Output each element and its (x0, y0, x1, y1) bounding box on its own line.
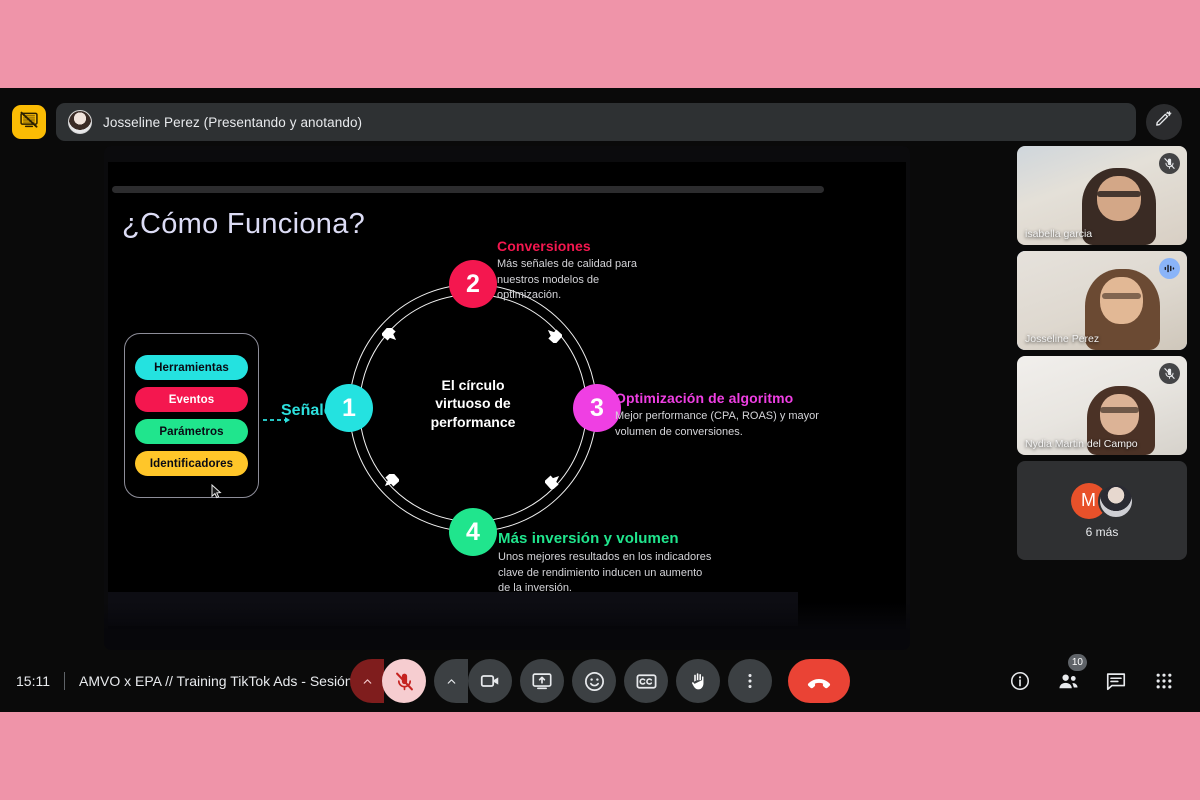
node-number: 3 (590, 394, 604, 423)
presenter-avatar (68, 110, 92, 134)
participant-tiles: isabella garcia Josseline Perez (1017, 146, 1187, 560)
presenter-label: Josseline Perez (Presentando y anotando) (103, 115, 362, 130)
annotate-button[interactable] (1146, 104, 1182, 140)
meet-window: Josseline Perez (Presentando y anotando)… (0, 88, 1200, 712)
mic-off-badge (1159, 153, 1180, 174)
presenting-bar: Josseline Perez (Presentando y anotando) (0, 98, 1200, 146)
participant-tile-josseline[interactable]: Josseline Perez (1017, 251, 1187, 350)
mic-off-icon (394, 671, 415, 692)
overflow-label: 6 más (1086, 525, 1119, 539)
participant-tile-isabella[interactable]: isabella garcia (1017, 146, 1187, 245)
callout-heading: Más inversión y volumen (498, 530, 713, 547)
pill-eventos: Eventos (135, 387, 248, 412)
camera-options-button[interactable] (434, 659, 468, 703)
signals-group: Herramientas Eventos Parámetros Identifi… (124, 333, 259, 498)
closed-captions-icon (635, 670, 658, 693)
callout-heading: Conversiones (497, 238, 657, 254)
arrow-bottom-right-icon (545, 474, 562, 489)
captions-button[interactable] (624, 659, 668, 703)
letterbox-top (0, 0, 1200, 88)
callout-body: Más señales de calidad para nuestros mod… (497, 257, 657, 304)
chat-bubble-icon (1105, 670, 1127, 692)
avatar-letter: M (1081, 490, 1096, 511)
secondary-controls: 10 (1002, 663, 1182, 699)
center-line-1: El círculo (391, 376, 555, 394)
primary-controls (350, 659, 850, 703)
mic-off-icon (1163, 367, 1176, 380)
letterbox-bottom (0, 712, 1200, 800)
arrow-top-right-icon (545, 328, 562, 343)
mic-off-icon (1163, 157, 1176, 170)
circle-node-4: 4 (449, 508, 497, 556)
control-divider (64, 672, 65, 690)
activities-button[interactable] (1146, 663, 1182, 699)
callout-optimizacion: Optimización de algoritmo Mejor performa… (615, 390, 825, 440)
chat-button[interactable] (1098, 663, 1134, 699)
stop-screenshare-button[interactable] (12, 105, 46, 139)
mic-control-group (350, 659, 426, 703)
virtuous-circle-diagram: 1 2 3 4 El círculo virtuoso de performa (349, 284, 597, 532)
meeting-title: AMVO x EPA // Training TikTok Ads - Sesi… (79, 673, 364, 689)
slide-title: ¿Cómo Funciona? (122, 208, 365, 241)
center-line-3: performance (391, 413, 555, 431)
node-number: 1 (342, 394, 356, 423)
grid-apps-icon (1154, 671, 1174, 691)
callout-body: Mejor performance (CPA, ROAS) y mayor vo… (615, 409, 825, 440)
microphone-button[interactable] (382, 659, 426, 703)
mic-off-badge (1159, 363, 1180, 384)
participant-tile-nydia[interactable]: Nydia Martin del Campo (1017, 356, 1187, 455)
callout-heading: Optimización de algoritmo (615, 390, 825, 406)
callout-inversion: Más inversión y volumen Unos mejores res… (498, 530, 713, 597)
mouse-cursor (211, 484, 222, 499)
presenting-indicator[interactable]: Josseline Perez (Presentando y anotando) (56, 103, 1136, 141)
participant-name: isabella garcia (1025, 228, 1092, 240)
stop-screenshare-icon (19, 110, 39, 135)
meeting-time: 15:11 (16, 673, 50, 689)
pencil-annotate-icon (1154, 110, 1174, 135)
horizontal-scrollbar[interactable] (112, 186, 824, 193)
screen-root: Josseline Perez (Presentando y anotando)… (0, 0, 1200, 800)
present-screen-button[interactable] (520, 659, 564, 703)
raise-hand-button[interactable] (676, 659, 720, 703)
camera-button[interactable] (468, 659, 512, 703)
overflow-avatars: M (1071, 483, 1134, 519)
avatar-photo (1098, 483, 1134, 519)
arrow-bottom-left-icon (382, 474, 399, 489)
audio-wave-badge (1159, 258, 1180, 279)
audio-wave-icon (1163, 262, 1176, 275)
node-number: 4 (466, 518, 480, 547)
more-options-button[interactable] (728, 659, 772, 703)
arrow-top-left-icon (382, 328, 399, 343)
pill-label: Herramientas (154, 362, 229, 374)
chevron-up-icon (361, 675, 374, 688)
camera-control-group (434, 659, 512, 703)
mic-options-button[interactable] (350, 659, 384, 703)
more-vertical-icon (740, 671, 760, 691)
people-count-badge: 10 (1068, 654, 1087, 671)
circle-node-3: 3 (573, 384, 621, 432)
emoji-smile-icon (583, 670, 606, 693)
people-button[interactable]: 10 (1050, 663, 1086, 699)
pill-label: Identificadores (150, 458, 233, 470)
more-participants-tile[interactable]: M 6 más (1017, 461, 1187, 560)
chevron-up-icon (445, 675, 458, 688)
raise-hand-icon (687, 670, 710, 693)
pill-herramientas: Herramientas (135, 355, 248, 380)
hangup-phone-icon (806, 668, 832, 694)
participant-name: Nydia Martin del Campo (1025, 438, 1138, 450)
circle-center-text: El círculo virtuoso de performance (391, 376, 555, 431)
shared-screen[interactable]: ¿Cómo Funciona? Herramientas Eventos Par… (104, 146, 910, 650)
center-line-2: virtuoso de (391, 394, 555, 412)
control-bar: 15:11 AMVO x EPA // Training TikTok Ads … (0, 650, 1200, 712)
pill-label: Parámetros (159, 426, 223, 438)
people-icon (1057, 670, 1080, 693)
slide-canvas: ¿Cómo Funciona? Herramientas Eventos Par… (108, 162, 906, 632)
callout-body: Unos mejores resultados en los indicador… (498, 550, 713, 597)
node-number: 2 (466, 270, 480, 299)
info-circle-icon (1009, 670, 1031, 692)
pill-identificadores: Identificadores (135, 451, 248, 476)
pill-parametros: Parámetros (135, 419, 248, 444)
participant-name: Josseline Perez (1025, 333, 1099, 345)
callout-conversiones: Conversiones Más señales de calidad para… (497, 238, 657, 304)
pill-label: Eventos (169, 394, 214, 406)
meeting-details-button[interactable] (1002, 663, 1038, 699)
circle-node-1: 1 (325, 384, 373, 432)
stage-bottom-fade (104, 602, 910, 650)
leave-call-button[interactable] (788, 659, 850, 703)
video-camera-icon (479, 670, 501, 692)
present-screen-icon (531, 670, 553, 692)
circle-node-2: 2 (449, 260, 497, 308)
reactions-button[interactable] (572, 659, 616, 703)
